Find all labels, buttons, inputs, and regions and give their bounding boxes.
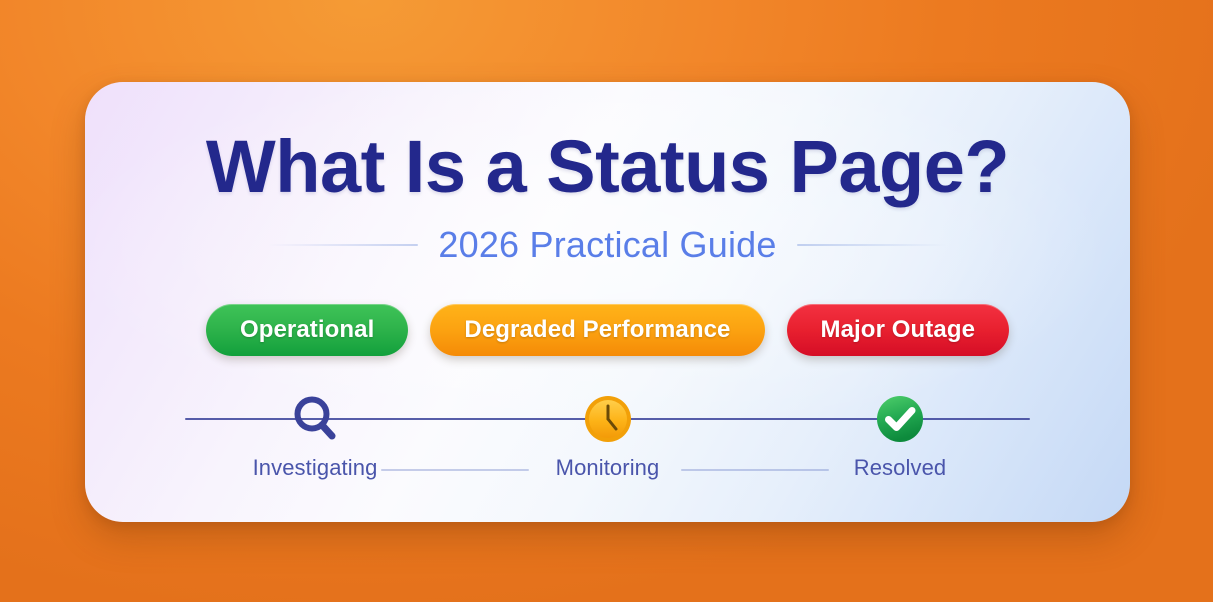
status-pill-group: Operational Degraded Performance Major O… — [85, 304, 1130, 356]
timeline-stage-monitoring[interactable]: Monitoring — [533, 387, 683, 481]
timeline-stage-resolved[interactable]: Resolved — [825, 387, 975, 481]
timeline-stage-investigating[interactable]: Investigating — [240, 387, 390, 481]
status-pill-operational[interactable]: Operational — [206, 304, 408, 356]
timeline-stage-label-resolved: Resolved — [854, 455, 947, 481]
subtitle-rule-right — [797, 244, 947, 246]
timeline-stage-label-investigating: Investigating — [253, 455, 378, 481]
infographic-card: What Is a Status Page? 2026 Practical Gu… — [85, 82, 1130, 522]
check-circle-icon — [868, 387, 932, 451]
subtitle-rule-left — [268, 244, 418, 246]
page-title: What Is a Status Page? — [85, 130, 1130, 204]
incident-timeline: Investigating — [185, 387, 1030, 497]
clock-icon — [576, 387, 640, 451]
status-pill-major-outage[interactable]: Major Outage — [787, 304, 1010, 356]
page-subtitle: 2026 Practical Guide — [438, 224, 776, 266]
timeline-stage-label-monitoring: Monitoring — [556, 455, 660, 481]
subtitle-row: 2026 Practical Guide — [85, 224, 1130, 266]
status-pill-degraded-performance[interactable]: Degraded Performance — [430, 304, 764, 356]
magnifying-glass-icon — [283, 387, 347, 451]
